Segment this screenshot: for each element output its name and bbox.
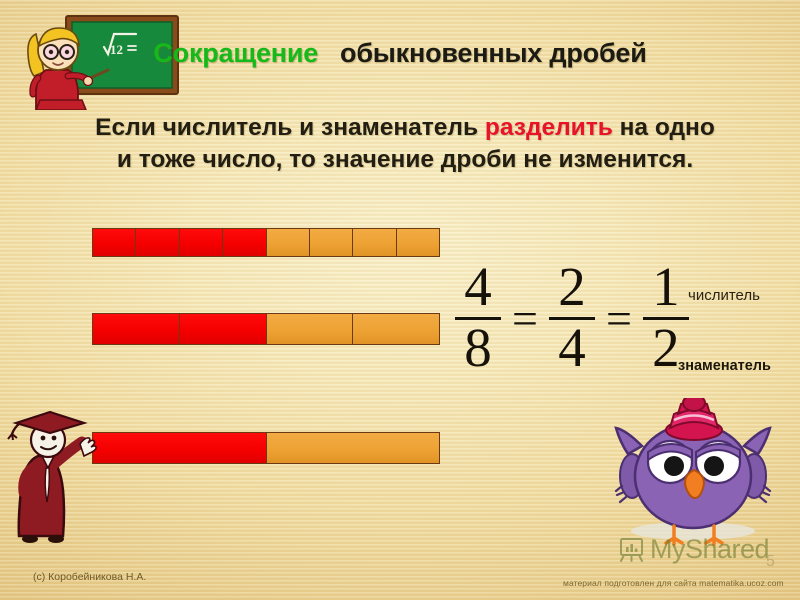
numerator-value: 4 <box>457 262 499 313</box>
fraction-one-half: 1 2 <box>643 262 689 374</box>
statement-line-2: и тоже число, то значение дроби не измен… <box>117 146 693 173</box>
equals-sign-2: = <box>604 292 634 345</box>
bar-segment-empty <box>353 314 439 344</box>
numerator-label: числитель <box>688 287 760 304</box>
bar-segment-empty <box>353 229 396 256</box>
watermark-label: MyShared <box>650 534 769 565</box>
statement-part-b: на одно <box>613 114 715 141</box>
fraction-two-quarters: 2 4 <box>549 262 595 374</box>
denominator-value: 8 <box>457 323 499 374</box>
bar-segment-filled <box>136 229 179 256</box>
denominator-label: знаменатель <box>678 358 771 374</box>
fraction-bar-eighths <box>92 228 440 257</box>
denominator-value: 4 <box>551 323 593 374</box>
bar-segment-empty <box>267 433 440 463</box>
numerator-value: 2 <box>551 262 593 313</box>
slide-canvas: 12 Сокращение обыкновенн <box>0 0 800 600</box>
myshared-watermark: MyShared <box>618 534 769 565</box>
bar-segment-empty <box>397 229 439 256</box>
myshared-easel-icon <box>618 536 645 563</box>
bar-segment-filled <box>180 314 267 344</box>
page-number: 5 <box>766 553 775 571</box>
bar-segment-filled <box>180 229 223 256</box>
fraction-four-eighths: 4 8 <box>455 262 501 374</box>
title-rest: обыкновенных дробей <box>340 38 647 68</box>
bar-segment-filled <box>93 229 136 256</box>
copyright-notice: (с) Коробейникова Н.А. <box>33 571 146 583</box>
fraction-bar-quarters <box>92 313 440 345</box>
bar-segment-empty <box>310 229 353 256</box>
equals-sign-1: = <box>510 292 540 345</box>
bar-segment-empty <box>267 314 354 344</box>
bar-segment-filled <box>223 229 266 256</box>
title-highlight: Сокращение <box>153 38 318 68</box>
numerator-value: 1 <box>645 262 687 313</box>
bar-segment-filled <box>93 314 180 344</box>
statement-emphasis: разделить <box>485 114 613 141</box>
bar-segment-empty <box>267 229 310 256</box>
graduate-figure-icon <box>2 404 102 566</box>
page-title: Сокращение обыкновенных дробей <box>0 38 800 69</box>
rule-statement: Если числитель и знаменатель разделить н… <box>40 112 770 176</box>
fraction-bar-halves <box>92 432 440 464</box>
source-note: материал подготовлен для сайта matematik… <box>563 578 784 588</box>
bar-segment-filled <box>93 433 267 463</box>
statement-part-a: Если числитель и знаменатель <box>95 114 485 141</box>
fraction-equation: 4 8 = 2 4 = 1 2 <box>455 262 689 374</box>
